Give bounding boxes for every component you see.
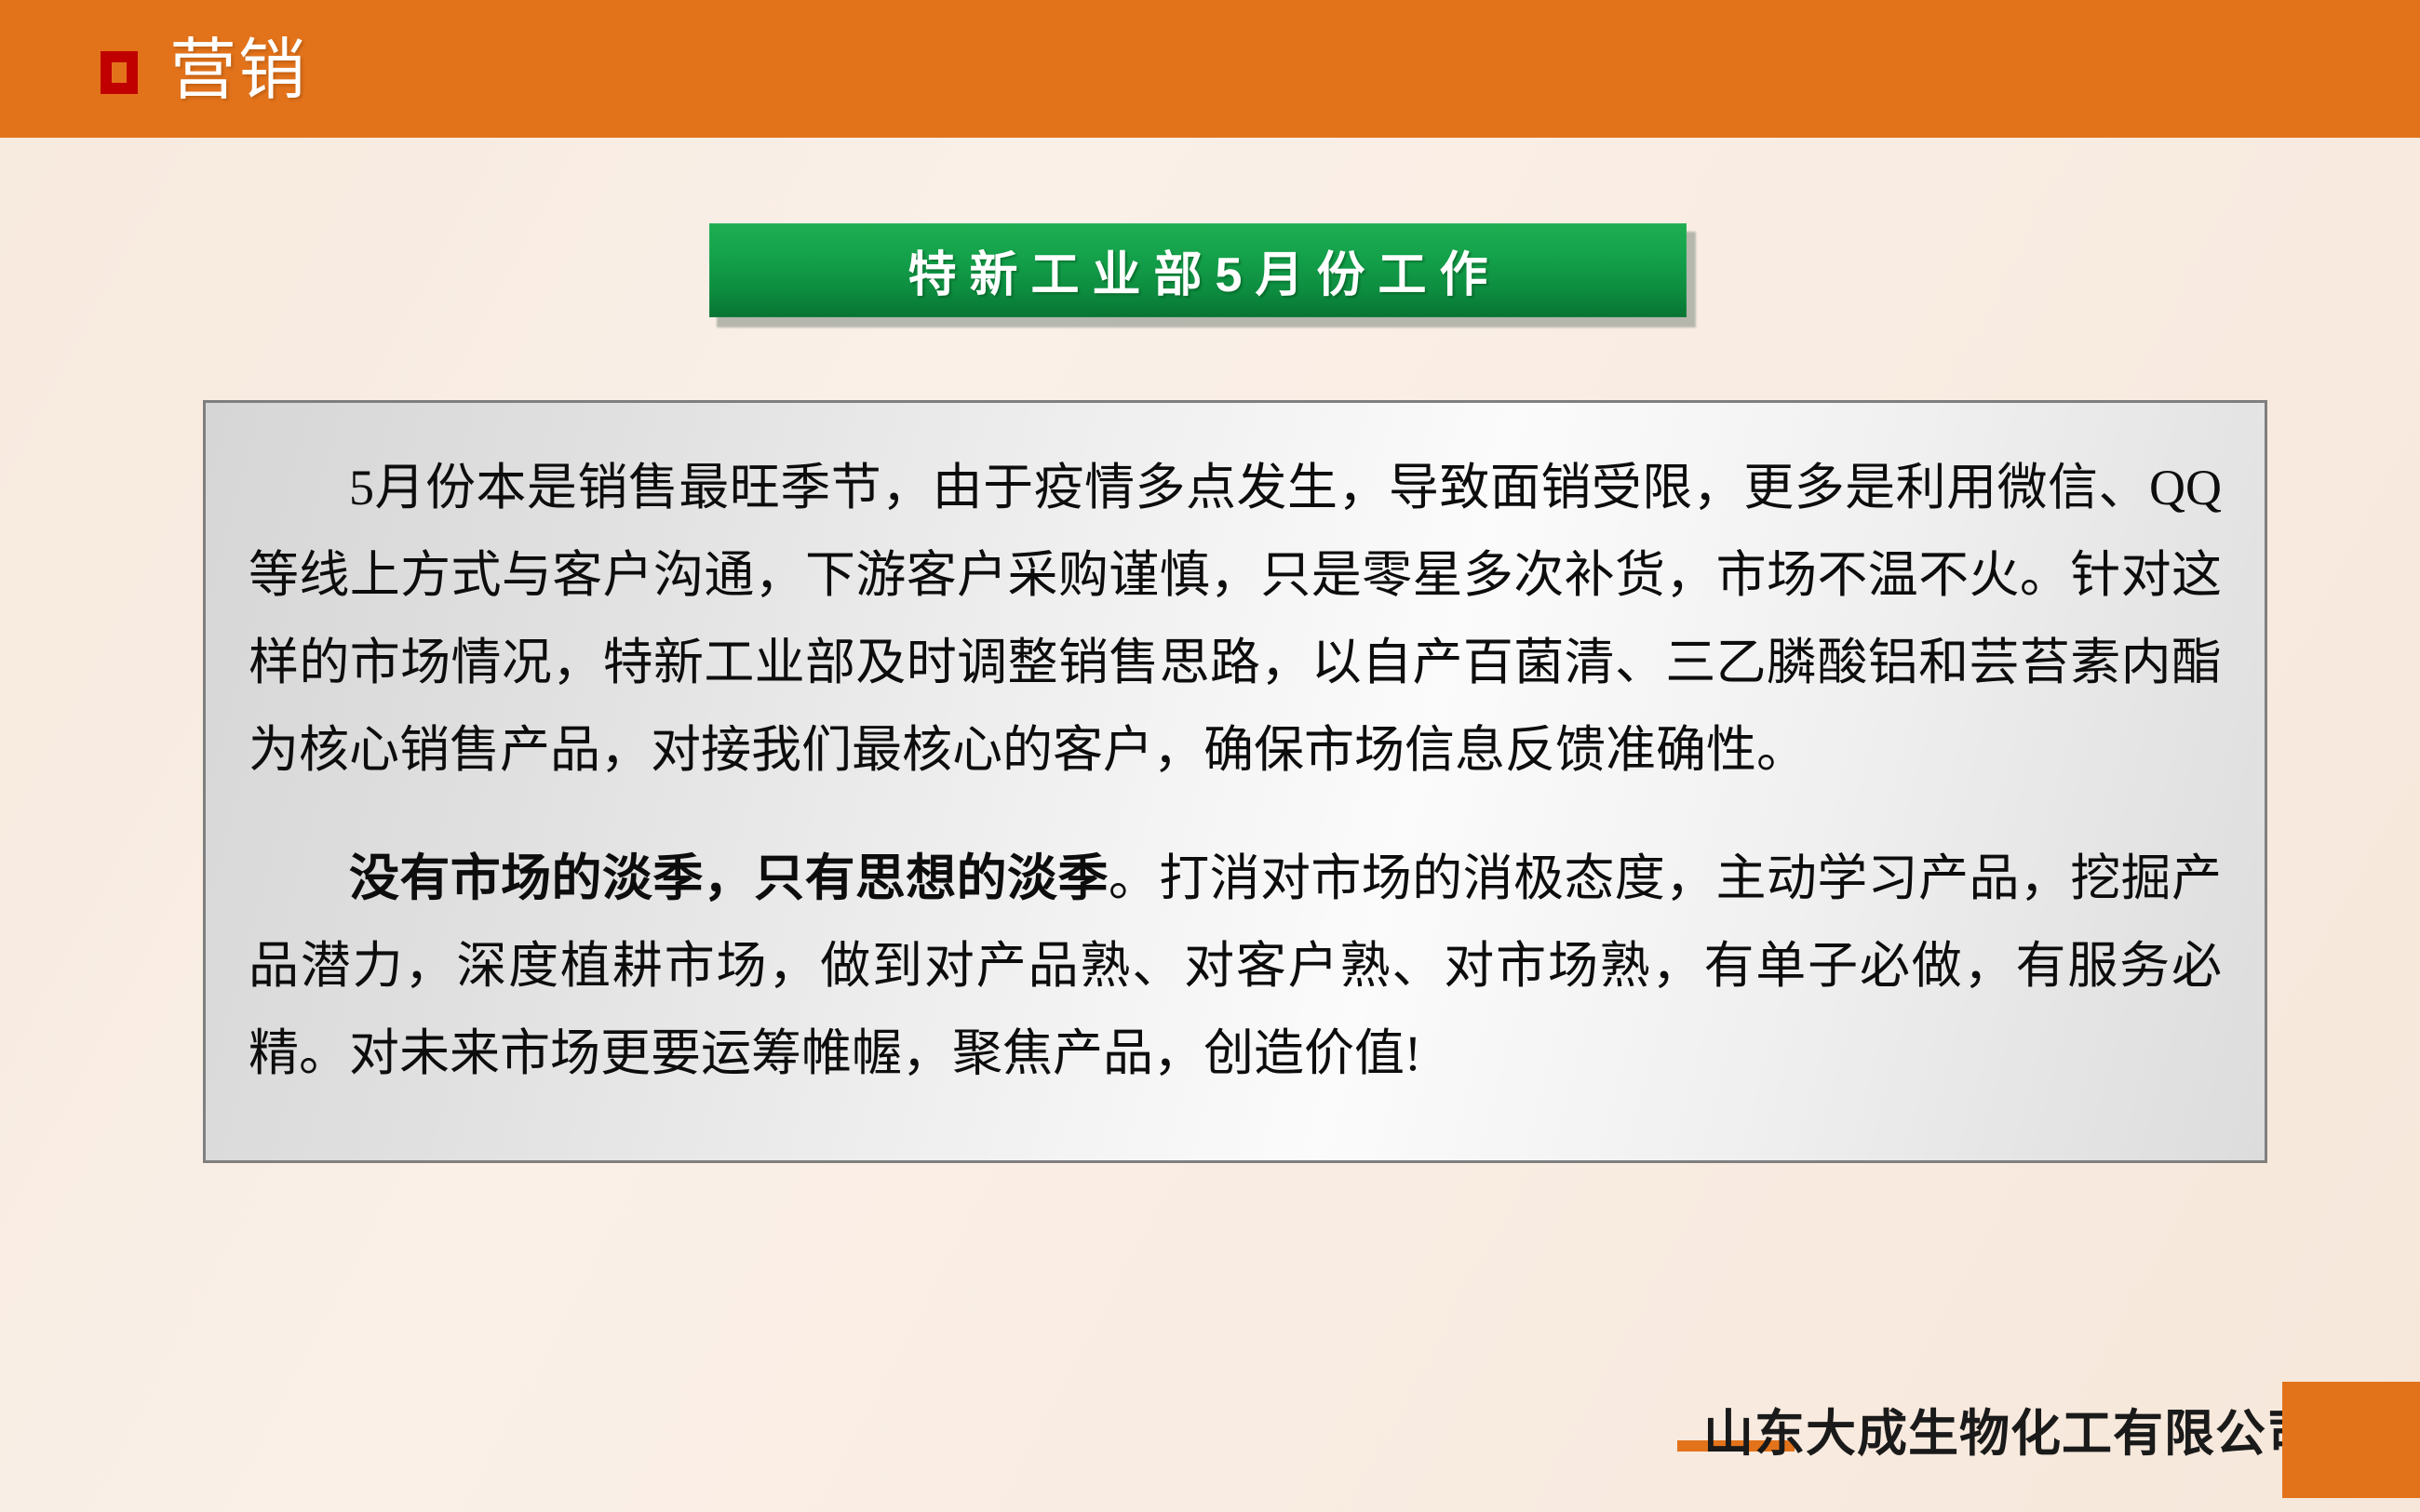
page-title: 营销 [169,37,307,104]
header-content: 营销 [101,0,307,138]
title-banner-label: 特新工业部5月份工作 [895,235,1501,305]
footer-accent-block [2282,1382,2420,1498]
slide-canvas: 营销 特新工业部5月份工作 5月份本是销售最旺季节，由于疫情多点发生，导致面销受… [0,0,2420,1512]
paragraph-2: 没有市场的淡季，只有思想的淡季。打消对市场的消极态度，主动学习产品，挖掘产品潜力… [249,835,2222,1097]
footer-company-name: 山东大成生物化工有限公司 [1703,1392,2318,1465]
paragraph-1: 5月份本是销售最旺季节，由于疫情多点发生，导致面销受限，更多是利用微信、QQ等线… [249,444,2222,794]
header-band: 营销 [0,0,2420,138]
content-box: 5月份本是销售最旺季节，由于疫情多点发生，导致面销受限，更多是利用微信、QQ等线… [203,400,2267,1163]
title-banner: 特新工业部5月份工作 [709,223,1696,328]
red-square-bullet-icon [101,51,138,94]
paragraph-1-text: 5月份本是销售最旺季节，由于疫情多点发生，导致面销受限，更多是利用微信、QQ等线… [249,460,2222,778]
paragraph-2-emphasis: 没有市场的淡季，只有思想的淡季 [349,850,1109,906]
title-banner-body: 特新工业部5月份工作 [709,223,1687,317]
